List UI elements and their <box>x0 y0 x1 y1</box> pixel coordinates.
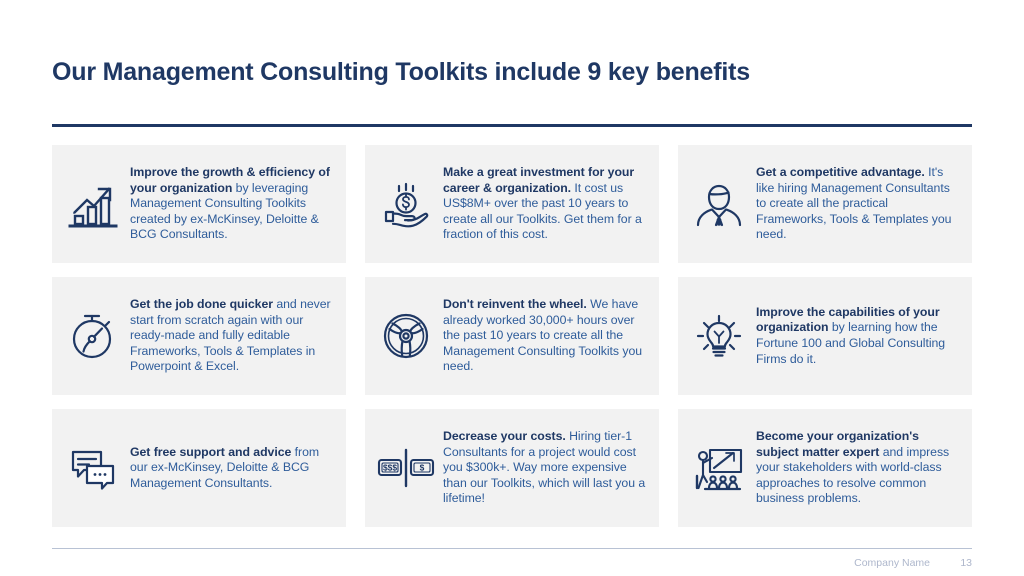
benefit-card[interactable]: Get a competitive advantage. It's like h… <box>678 145 972 263</box>
speech-bubbles-icon <box>62 437 124 499</box>
businessman-icon <box>688 173 750 235</box>
benefit-text: Improve the growth & efficiency of your … <box>130 165 334 243</box>
benefit-card[interactable]: Improve the growth & efficiency of your … <box>52 145 346 263</box>
benefit-heading: Don't reinvent the wheel. <box>443 297 587 311</box>
benefit-text: Improve the capabilities of your organiz… <box>756 305 960 367</box>
benefit-heading: Get a competitive advantage. <box>756 165 925 179</box>
stopwatch-icon <box>62 305 124 367</box>
benefit-text: Decrease your costs. Hiring tier-1 Consu… <box>443 429 647 507</box>
benefit-card[interactable]: Improve the capabilities of your organiz… <box>678 277 972 395</box>
benefit-card[interactable]: Make a great investment for your career … <box>365 145 659 263</box>
benefit-heading: Decrease your costs. <box>443 429 566 443</box>
svg-text:$$$: $$$ <box>383 463 397 473</box>
title-divider <box>52 124 972 127</box>
footer-page-number: 13 <box>956 557 972 569</box>
lightbulb-idea-icon <box>688 305 750 367</box>
svg-text:$: $ <box>420 463 425 473</box>
presenter-audience-icon <box>688 437 750 499</box>
benefit-card[interactable]: Don't reinvent the wheel. We have alread… <box>365 277 659 395</box>
benefit-text: Get a competitive advantage. It's like h… <box>756 165 960 243</box>
footer: Company Name 13 <box>52 554 972 572</box>
benefit-card[interactable]: Get the job done quicker and never start… <box>52 277 346 395</box>
benefit-text: Get the job done quicker and never start… <box>130 297 334 375</box>
benefit-heading: Get free support and advice <box>130 445 291 459</box>
page-title: Our Management Consulting Toolkits inclu… <box>52 58 972 87</box>
benefit-card[interactable]: Get free support and advice from our ex-… <box>52 409 346 527</box>
benefit-heading: Get the job done quicker <box>130 297 273 311</box>
benefit-text: Don't reinvent the wheel. We have alread… <box>443 297 647 375</box>
money-comparison-icon: $$$ $ <box>375 437 437 499</box>
benefit-card[interactable]: Become your organization's subject matte… <box>678 409 972 527</box>
footer-company-name: Company Name <box>854 557 930 569</box>
benefit-text: Make a great investment for your career … <box>443 165 647 243</box>
benefit-text: Get free support and advice from our ex-… <box>130 445 334 492</box>
footer-divider <box>52 548 972 549</box>
bar-chart-growth-icon <box>62 173 124 235</box>
steering-wheel-icon <box>375 305 437 367</box>
slide: Our Management Consulting Toolkits inclu… <box>0 0 1024 576</box>
hand-holding-money-icon <box>375 173 437 235</box>
benefit-text: Become your organization's subject matte… <box>756 429 960 507</box>
benefits-grid: Improve the growth & efficiency of your … <box>52 145 972 527</box>
benefit-card[interactable]: $$$ $ Decrease your costs. Hiring tier-1… <box>365 409 659 527</box>
